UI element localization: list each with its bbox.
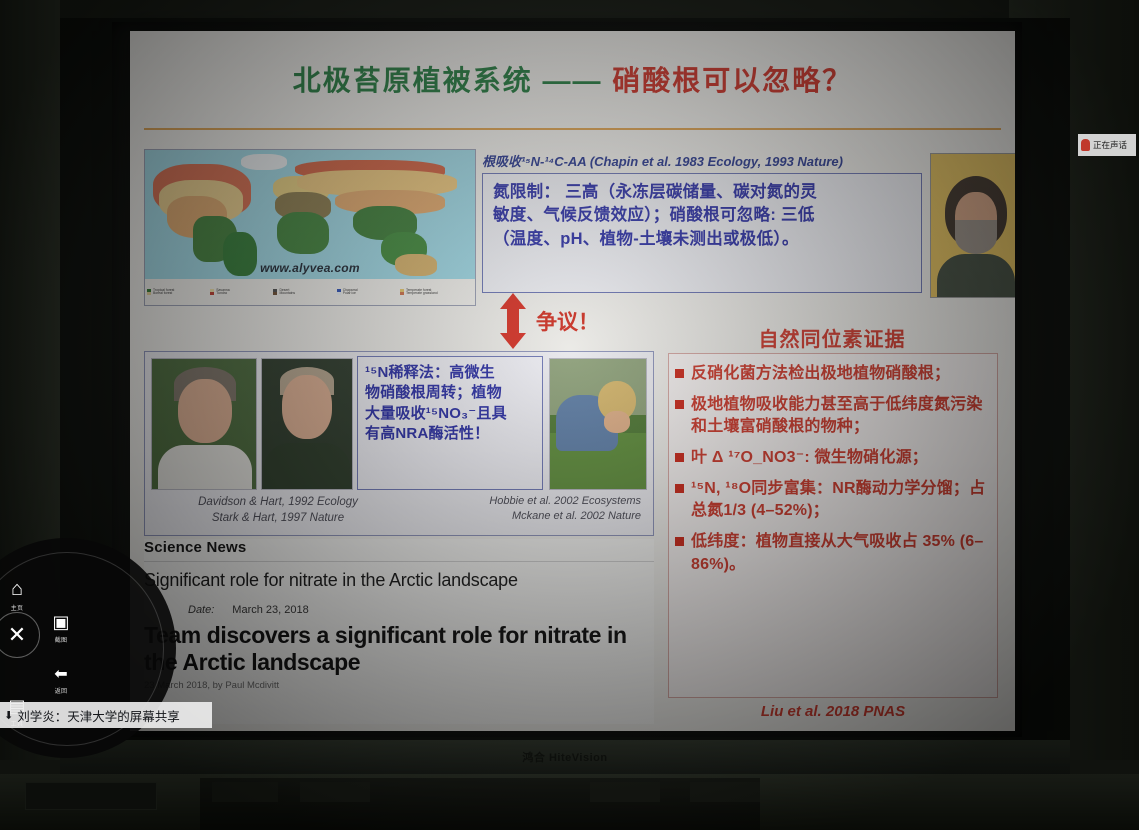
desk-object (590, 782, 660, 802)
citation-line: Mckane et al. 2002 Nature (403, 509, 641, 524)
radial-item-back[interactable]: ⬅ 返回 (38, 664, 84, 695)
radial-item-camera[interactable]: ▣ 截图 (38, 612, 84, 644)
citation-line: Hobbie et al. 2002 Ecosystems (403, 494, 641, 509)
researcher-portrait-chapin (930, 153, 1015, 298)
science-news-clipping: Science News Significant role for nitrat… (144, 539, 654, 724)
citation-left: Davidson & Hart, 1992 Ecology Stark & Ha… (153, 494, 403, 526)
monitor-brand: 鸿合 HiteVision (522, 749, 607, 765)
keyboard (25, 782, 157, 810)
legend-item: Polar ice (337, 292, 400, 295)
researcher-portrait-hart (261, 358, 353, 490)
screen-share-bar[interactable]: ⬇ 刘学炎：天津大学的屏幕共享 (0, 702, 212, 728)
radial-item-home[interactable]: ⌂ 主页 (0, 578, 40, 612)
desk-shadow (200, 778, 760, 830)
dilution-method-panel: ¹⁵N稀释法：高微生 物硝酸根周转；植物 大量吸收¹⁵NO₃⁻且具 有高NRA酶… (144, 351, 654, 536)
citation-line: Stark & Hart, 1997 Nature (153, 510, 403, 526)
blue-box-line: 氮限制： 三高（永冻层碳储量、碳对氮的灵 (493, 181, 911, 204)
evidence-list: 反硝化菌方法检出极地植物硝酸根； 极地植物吸收能力甚至高于低纬度氮污染和土壤富硝… (668, 353, 998, 698)
desk-object (212, 782, 278, 802)
news-byline: 23 March 2018, by Paul Mcdivitt (144, 680, 654, 691)
evidence-text: 极地植物吸收能力甚至高于低纬度氮污染和土壤富硝酸根的物种； (691, 394, 989, 438)
evidence-title: 自然同位素证据 (662, 323, 1002, 352)
map-watermark: www.alyvea.com (145, 261, 475, 275)
evidence-text: 低纬度：植物直接从大气吸收占 35% (6–86%)。 (691, 531, 989, 575)
news-subhead: Significant role for nitrate in the Arct… (144, 570, 654, 591)
evidence-item: 低纬度：植物直接从大气吸收占 35% (6–86%)。 (675, 531, 989, 575)
uptake-caption: 根吸收¹⁵N-¹⁴C-AA (Chapin et al. 1983 Ecolog… (482, 151, 922, 170)
news-divider (144, 561, 654, 562)
biome-map-image: www.alyvea.com Tropical forest Savanna D… (144, 149, 476, 306)
map-legend: Tropical forest Savanna Desert Chaparral… (145, 279, 475, 305)
n15-dilution-box: ¹⁵N稀释法：高微生 物硝酸根周转；植物 大量吸收¹⁵NO₃⁻且具 有高NRA酶… (357, 356, 543, 490)
blue-box-line: 敏度、气候反馈效应）；硝酸根可忽略: 三低 (493, 204, 911, 227)
legend-label: Tundra (216, 292, 227, 295)
radial-label: 截图 (38, 635, 84, 644)
evidence-item: 反硝化菌方法检出极地植物硝酸根； (675, 363, 989, 385)
evidence-item: ¹⁵N, ¹⁸O同步富集：NR酶动力学分馏；占总氮1/3 (4–52%)； (675, 478, 989, 522)
slide-title-left: 北极苔原植被系统 (293, 65, 533, 96)
bullet-icon (675, 484, 684, 493)
nitrogen-limitation-box: 氮限制： 三高（永冻层碳储量、碳对氮的灵 敏度、气候反馈效应）；硝酸根可忽略: … (482, 173, 922, 293)
double-arrow-icon (500, 293, 526, 349)
monitor-bottom-bezel: 鸿合 HiteVision (60, 740, 1070, 774)
citation-right: Hobbie et al. 2002 Ecosystems Mckane et … (403, 494, 647, 525)
evidence-citation: Liu et al. 2018 PNAS (668, 703, 998, 720)
back-icon: ⬅ (38, 664, 84, 684)
screen-share-text: 刘学炎：天津大学的屏幕共享 (17, 706, 180, 725)
news-date: Date:March 23, 2018 (188, 604, 654, 616)
legend-item: Mountains (273, 292, 336, 295)
home-icon: ⌂ (0, 578, 40, 601)
legend-label: Temperate grassland (406, 292, 438, 295)
controversy-label: 争议！ (536, 306, 599, 336)
speaking-indicator[interactable]: 正在声话 (1078, 134, 1136, 156)
slide-title-dash: —— (543, 65, 603, 96)
evidence-item: 极地植物吸收能力甚至高于低纬度氮污染和土壤富硝酸根的物种； (675, 394, 989, 438)
legend-item: Temperate grassland (400, 292, 463, 295)
bullet-icon (675, 537, 684, 546)
evidence-text: 叶 Δ ¹⁷O_NO3⁻: 微生物硝化源； (691, 447, 928, 469)
bullet-icon (675, 400, 684, 409)
legend-item: Tundra (210, 292, 273, 295)
camera-icon: ▣ (38, 612, 84, 633)
legend-item: Boreal forest (147, 292, 210, 295)
mic-icon (1081, 139, 1090, 151)
news-headline: Team discovers a significant role for ni… (144, 622, 654, 676)
legend-label: Mountains (279, 292, 295, 295)
n15-line: 物硝酸根周转；植物 (365, 383, 535, 403)
download-icon: ⬇ (4, 709, 13, 722)
slide-title-right: 硝酸根可以忽略？ (612, 65, 852, 96)
radial-label: 返回 (38, 686, 84, 695)
legend-label: Boreal forest (153, 292, 172, 295)
evidence-text: 反硝化菌方法检出极地植物硝酸根； (691, 363, 950, 385)
fieldwork-photo (549, 358, 647, 490)
researcher-portrait-davidson (151, 358, 257, 490)
desk-object (690, 782, 760, 802)
bullet-icon (675, 453, 684, 462)
classroom-scene: 北极苔原植被系统 —— 硝酸根可以忽略？ www.alyvea.com (0, 0, 1139, 830)
news-date-value: March 23, 2018 (232, 604, 308, 616)
n15-line: 有高NRA酶活性！ (365, 424, 535, 444)
n15-line: ¹⁵N稀释法：高微生 (365, 363, 535, 383)
map-region (277, 212, 329, 254)
controversy-arrow-group: 争议！ (488, 293, 648, 349)
legend-label: Polar ice (343, 292, 356, 295)
evidence-item: 叶 Δ ¹⁷O_NO3⁻: 微生物硝化源； (675, 447, 989, 469)
slide-title: 北极苔原植被系统 —— 硝酸根可以忽略？ (130, 59, 1015, 99)
map-region (241, 154, 287, 170)
news-date-label: Date: (188, 604, 214, 616)
news-kicker: Science News (144, 539, 654, 556)
title-divider (144, 128, 1001, 130)
presentation-slide: 北极苔原植被系统 —— 硝酸根可以忽略？ www.alyvea.com (130, 31, 1015, 731)
blue-box-line: （温度、pH、植物-土壤未测出或极低）。 (493, 228, 911, 251)
bullet-icon (675, 369, 684, 378)
speaking-text: 正在声话 (1093, 139, 1127, 151)
desk-object (300, 782, 370, 802)
citation-line: Davidson & Hart, 1992 Ecology (153, 494, 403, 510)
radial-label: 主页 (0, 603, 40, 612)
evidence-text: ¹⁵N, ¹⁸O同步富集：NR酶动力学分馏；占总氮1/3 (4–52%)； (691, 478, 989, 522)
n15-line: 大量吸收¹⁵NO₃⁻且具 (365, 404, 535, 424)
